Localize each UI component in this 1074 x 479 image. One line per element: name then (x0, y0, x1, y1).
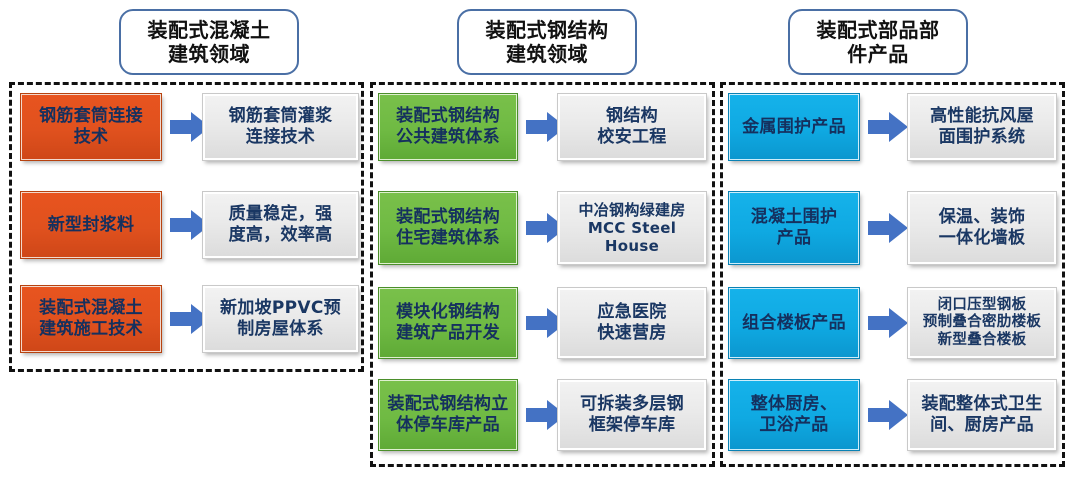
diagram-canvas: 装配式混凝土 建筑领域 装配式钢结构 建筑领域 装配式部品部 件产品 钢筋套筒连… (0, 0, 1074, 479)
header-label: 装配式混凝土 建筑领域 (148, 18, 271, 67)
header-label: 装配式钢结构 建筑领域 (486, 18, 609, 67)
node-line-2: 一体化墙板 (939, 228, 1026, 249)
node-line-1: 整体厨房、 (751, 394, 838, 415)
target-node[interactable]: 钢筋套筒灌浆 连接技术 (203, 94, 358, 160)
source-node[interactable]: 装配式钢结构 公共建筑体系 (379, 94, 517, 160)
node-line-2: 技术 (39, 127, 143, 148)
node-line-1: 钢筋套筒灌浆 (229, 106, 333, 127)
node-label: 中冶钢构绿建房 MCC Steel House (560, 201, 704, 256)
target-node[interactable]: 闭口压型钢板 预制叠合密肋楼板 新型叠合楼板 (908, 288, 1056, 358)
target-node[interactable]: 高性能抗风屋 面围护系统 (908, 94, 1056, 160)
header-label: 装配式部品部 件产品 (817, 18, 940, 67)
node-line-2: 建筑产品开发 (396, 323, 500, 344)
node-line-1: 装配式钢结构 (396, 207, 500, 228)
node-line-2: 公共建筑体系 (396, 127, 500, 148)
node-label: 保温、装饰 一体化墙板 (939, 207, 1026, 248)
source-node[interactable]: 整体厨房、 卫浴产品 (729, 380, 859, 450)
node-line-2: 度高，效率高 (229, 225, 333, 246)
node-line-2: 建筑施工技术 (39, 319, 143, 340)
source-node[interactable]: 装配式钢结构立 体停车库产品 (379, 380, 517, 450)
node-label: 可拆装多层钢 框架停车库 (580, 394, 684, 435)
node-line-1: 应急医院 (597, 302, 666, 323)
node-label: 钢筋套筒灌浆 连接技术 (229, 106, 333, 147)
source-node[interactable]: 模块化钢结构 建筑产品开发 (379, 288, 517, 358)
node-line-1: 中冶钢构绿建房 (560, 201, 704, 219)
node-line-2: 连接技术 (229, 127, 333, 148)
header-line-2: 建筑领域 (148, 42, 271, 66)
source-node[interactable]: 装配式混凝土 建筑施工技术 (21, 286, 161, 352)
source-node[interactable]: 金属围护产品 (729, 94, 859, 160)
node-label: 钢筋套筒连接 技术 (39, 106, 143, 147)
node-line-1: 混凝土围护 (751, 207, 838, 228)
node-label: 装配式钢结构 公共建筑体系 (396, 106, 500, 147)
node-line-1: 高性能抗风屋 (930, 106, 1034, 127)
header-box-components-products: 装配式部品部 件产品 (788, 9, 968, 75)
node-line-1: 装配整体式卫生 (921, 394, 1042, 415)
target-node[interactable]: 应急医院 快速营房 (558, 288, 706, 358)
node-line-3: 新型叠合楼板 (923, 332, 1041, 349)
source-node[interactable]: 混凝土围护 产品 (729, 192, 859, 264)
node-line-2: 快速营房 (597, 323, 666, 344)
header-line-1: 装配式混凝土 (148, 18, 271, 42)
node-label: 应急医院 快速营房 (597, 302, 666, 343)
source-node[interactable]: 组合楼板产品 (729, 288, 859, 358)
node-label: 新加坡PPVC预 制房屋体系 (220, 298, 341, 339)
node-label: 金属围护产品 (742, 117, 846, 138)
node-line-2: 产品 (751, 228, 838, 249)
node-line-2: 间、厨房产品 (921, 415, 1042, 436)
target-node[interactable]: 中冶钢构绿建房 MCC Steel House (558, 192, 706, 264)
target-node[interactable]: 钢结构 校安工程 (558, 94, 706, 160)
node-line-2: 预制叠合密肋楼板 (923, 314, 1041, 331)
right-arrow-icon (868, 306, 908, 340)
target-node[interactable]: 保温、装饰 一体化墙板 (908, 192, 1056, 264)
node-line-2: 体停车库产品 (387, 415, 508, 436)
node-line-2: 住宅建筑体系 (396, 228, 500, 249)
header-line-1: 装配式部品部 (817, 18, 940, 42)
node-line-1: 新型封浆料 (48, 215, 135, 236)
node-line-2: 制房屋体系 (220, 319, 341, 340)
node-label: 高性能抗风屋 面围护系统 (930, 106, 1034, 147)
node-label: 新型封浆料 (48, 215, 135, 236)
node-line-1: 可拆装多层钢 (580, 394, 684, 415)
header-line-2: 建筑领域 (486, 42, 609, 66)
target-node[interactable]: 装配整体式卫生 间、厨房产品 (908, 380, 1056, 450)
node-label: 质量稳定，强 度高，效率高 (229, 204, 333, 245)
node-line-1: 质量稳定，强 (229, 204, 333, 225)
node-label: 整体厨房、 卫浴产品 (751, 394, 838, 435)
node-line-1: 金属围护产品 (742, 117, 846, 138)
source-node[interactable]: 装配式钢结构 住宅建筑体系 (379, 192, 517, 264)
target-node[interactable]: 新加坡PPVC预 制房屋体系 (203, 286, 358, 352)
node-label: 钢结构 校安工程 (597, 106, 666, 147)
target-node[interactable]: 质量稳定，强 度高，效率高 (203, 192, 358, 258)
source-node[interactable]: 钢筋套筒连接 技术 (21, 94, 161, 160)
node-label: 装配式混凝土 建筑施工技术 (39, 298, 143, 339)
header-box-steel-structure: 装配式钢结构 建筑领域 (457, 9, 637, 75)
node-line-1: 保温、装饰 (939, 207, 1026, 228)
right-arrow-icon (868, 110, 908, 144)
header-line-2: 件产品 (817, 42, 940, 66)
node-label: 模块化钢结构 建筑产品开发 (396, 302, 500, 343)
node-label: 装配式钢结构立 体停车库产品 (387, 394, 508, 435)
right-arrow-icon (868, 398, 908, 432)
node-line-2: 框架停车库 (580, 415, 684, 436)
node-line-1: 装配式钢结构 (396, 106, 500, 127)
node-label: 闭口压型钢板 预制叠合密肋楼板 新型叠合楼板 (923, 297, 1041, 348)
node-line-2: MCC Steel House (560, 219, 704, 256)
node-label: 装配整体式卫生 间、厨房产品 (921, 394, 1042, 435)
header-line-1: 装配式钢结构 (486, 18, 609, 42)
node-line-1: 组合楼板产品 (742, 313, 846, 334)
header-box-precast-concrete: 装配式混凝土 建筑领域 (119, 9, 299, 75)
node-label: 组合楼板产品 (742, 313, 846, 334)
node-label: 混凝土围护 产品 (751, 207, 838, 248)
source-node[interactable]: 新型封浆料 (21, 192, 161, 258)
node-label: 装配式钢结构 住宅建筑体系 (396, 207, 500, 248)
node-line-2: 面围护系统 (930, 127, 1034, 148)
node-line-1: 闭口压型钢板 (923, 297, 1041, 314)
right-arrow-icon (868, 211, 908, 245)
node-line-1: 钢筋套筒连接 (39, 106, 143, 127)
node-line-1: 装配式钢结构立 (387, 394, 508, 415)
node-line-2: 校安工程 (597, 127, 666, 148)
node-line-1: 新加坡PPVC预 (220, 298, 341, 319)
node-line-1: 模块化钢结构 (396, 302, 500, 323)
target-node[interactable]: 可拆装多层钢 框架停车库 (558, 380, 706, 450)
node-line-1: 装配式混凝土 (39, 298, 143, 319)
node-line-1: 钢结构 (597, 106, 666, 127)
node-line-2: 卫浴产品 (751, 415, 838, 436)
